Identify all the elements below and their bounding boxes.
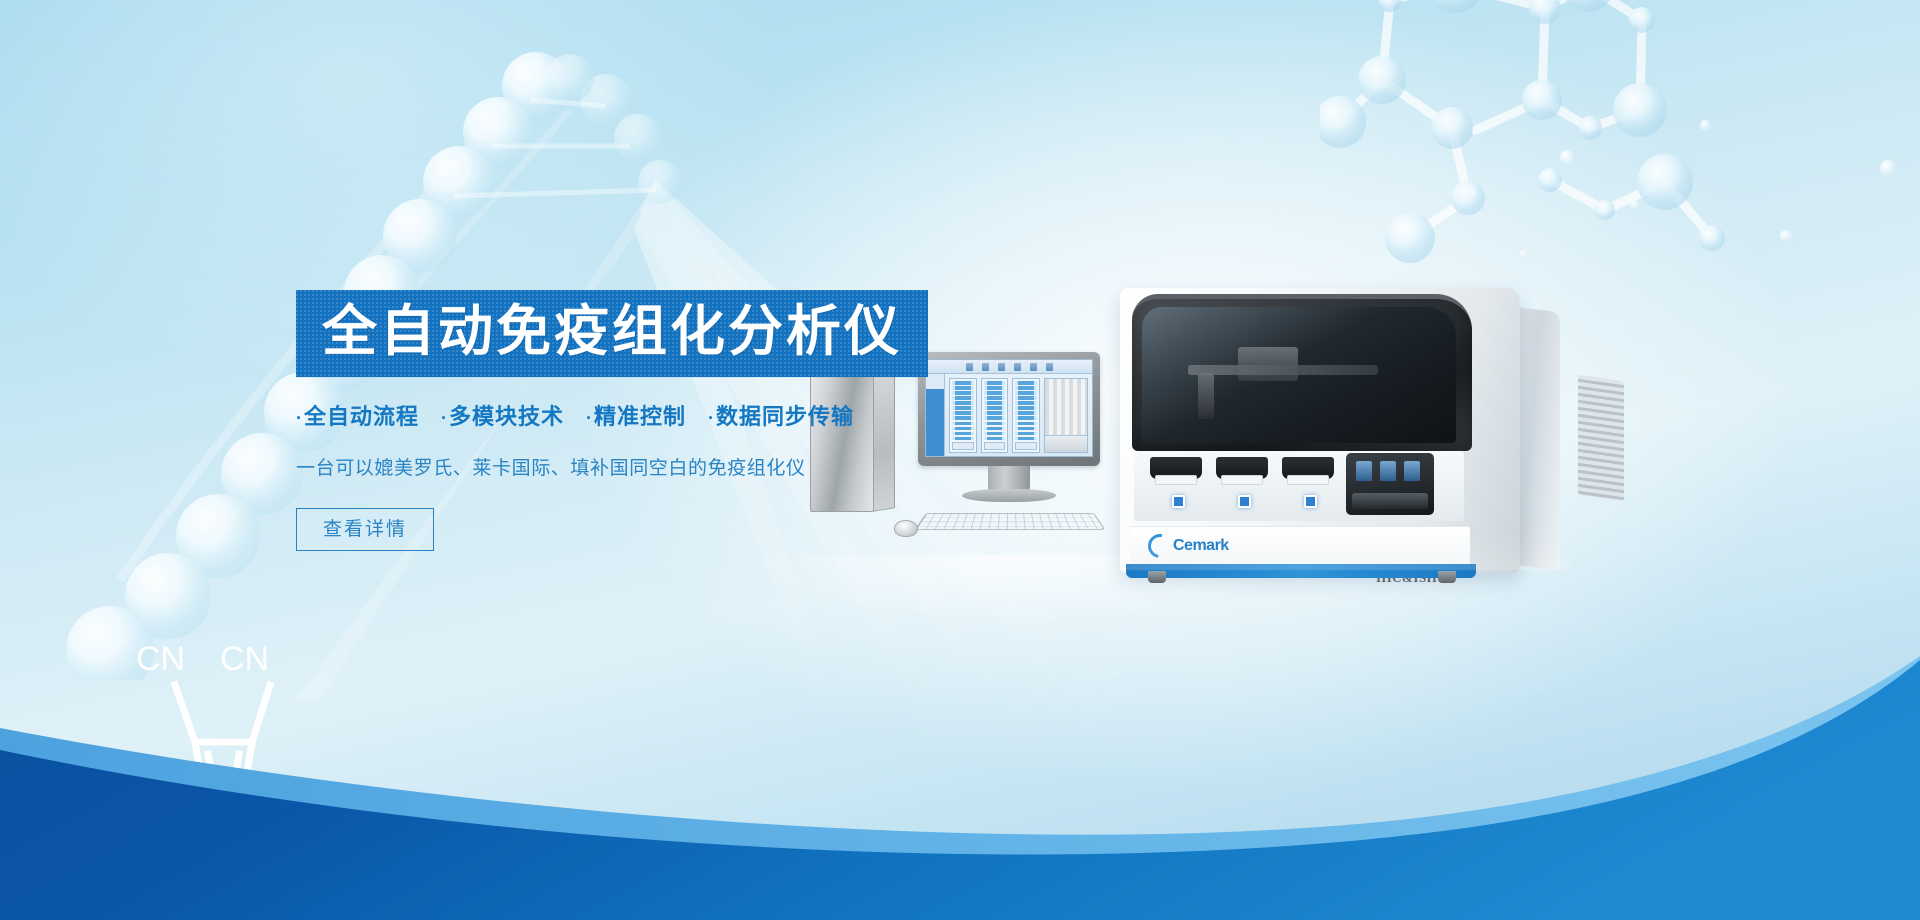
page-title: 全自动免疫组化分析仪 [322,302,902,361]
status-led [1238,495,1251,508]
feature-label: 精准控制 [594,404,686,429]
reagent-bay [1282,457,1334,479]
status-led [1172,495,1185,508]
bullet-icon: · [586,408,593,428]
bokeh-dot [1700,120,1711,131]
robotic-arm [1188,365,1378,375]
bokeh-dot [1470,190,1476,196]
bokeh-dot [1880,160,1896,176]
status-led [1304,495,1317,508]
bullet-icon: · [441,408,448,428]
banner-copy: 全自动免疫组化分析仪 ·全自动流程·多模块技术·精准控制·数据同步传输 一台可以… [296,290,1056,551]
bokeh-dot [1520,250,1527,257]
analyzer-vent [1578,375,1624,501]
feature-label: 多模块技术 [449,404,564,429]
robotic-head [1238,347,1298,381]
wave-dark-decoration [0,590,1920,920]
banner-description: 一台可以媲美罗氏、莱卡国际、填补国同空白的免疫组化仪 [296,453,1056,480]
product-banner: CN CN [0,0,1920,920]
view-details-button[interactable]: 查看详情 [296,508,434,551]
bullet-icon: · [296,408,303,428]
analyzer-hood [1132,294,1472,451]
bokeh-dot [1560,150,1574,164]
reagent-bay [1216,457,1268,479]
feature-label: 全自动流程 [304,404,419,429]
reagent-carousel [1346,453,1434,515]
feature-list: ·全自动流程·多模块技术·精准控制·数据同步传输 [296,399,1056,431]
bokeh-dot [1630,200,1639,209]
feature-item-3: ·精准控制 [586,404,686,429]
bokeh-dot [1780,230,1792,242]
feature-label: 数据同步传输 [716,404,854,429]
bullet-icon: · [708,408,715,428]
feature-item-4: ·数据同步传输 [708,404,854,429]
feature-item-2: ·多模块技术 [441,404,564,429]
title-box: 全自动免疫组化分析仪 [296,290,928,377]
analyzer-deck [1134,451,1464,521]
feature-item-1: ·全自动流程 [296,404,419,429]
robotic-arm-vertical [1198,373,1214,419]
reagent-bay [1150,457,1202,479]
analyzer-glass-cover [1142,307,1456,443]
